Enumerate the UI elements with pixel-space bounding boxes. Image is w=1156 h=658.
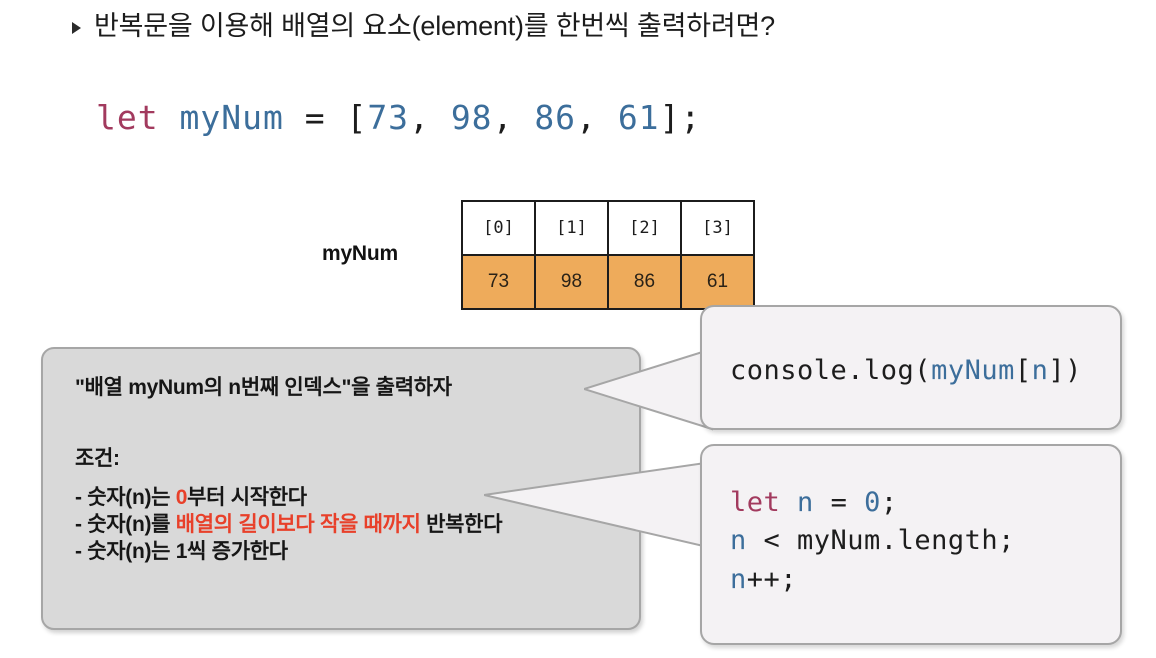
code-value-2: 86 — [534, 98, 576, 137]
console-log-code: console.log(myNum[n]) — [730, 352, 1082, 390]
condition-0-pre: - 숫자(n)는 — [75, 486, 176, 509]
loop-var-increment: n — [730, 564, 747, 595]
array-value-cell-3: 61 — [681, 255, 754, 309]
array-name-label: myNum — [288, 242, 398, 266]
loop-increment-rest: ++; — [747, 564, 797, 595]
code-separator-2: , — [576, 98, 618, 137]
array-index-cell-3: [3] — [681, 201, 754, 255]
code-keyword-let: let — [96, 98, 159, 137]
console-log-suffix: ]) — [1048, 355, 1082, 386]
table-row-values: 73 98 86 61 — [462, 255, 754, 309]
code-separator-0: , — [409, 98, 451, 137]
condition-1-highlight: 배열의 길이보다 작을 때까지 — [176, 513, 421, 536]
slide-heading: 반복문을 이용해 배열의 요소(element)를 한번씩 출력하려면? — [72, 8, 775, 44]
condition-0-highlight: 0 — [176, 486, 187, 509]
condition-2-pre: - 숫자(n)는 1씩 증가한다 — [75, 540, 288, 563]
code-identifier-mynum: myNum — [159, 98, 284, 137]
triangle-bullet-icon — [72, 22, 81, 34]
console-log-open-bracket: [ — [1015, 355, 1032, 386]
condition-1-pre: - 숫자(n)를 — [75, 513, 176, 536]
condition-0-post: 부터 시작한다 — [187, 486, 307, 509]
array-value-cell-1: 98 — [535, 255, 608, 309]
loop-var-init: n — [797, 487, 814, 518]
description-spacer — [75, 402, 609, 446]
slide-canvas: 반복문을 이용해 배열의 요소(element)를 한번씩 출력하려면? let… — [0, 0, 1156, 658]
table-row-indices: [0] [1] [2] [3] — [462, 201, 754, 255]
code-value-3: 61 — [618, 98, 660, 137]
description-title: "배열 myNum의 n번째 인덱스"을 출력하자 — [75, 375, 609, 402]
array-value-cell-2: 86 — [608, 255, 681, 309]
code-assign-operator: = — [284, 98, 347, 137]
code-open-bracket: [ — [346, 98, 367, 137]
condition-item-1: - 숫자(n)를 배열의 길이보다 작을 때까지 반복한다 — [75, 512, 609, 539]
array-index-cell-0: [0] — [462, 201, 535, 255]
console-log-index: n — [1032, 355, 1049, 386]
condition-1-post: 반복한다 — [421, 513, 503, 536]
console-log-object: myNum — [931, 355, 1015, 386]
condition-item-0: - 숫자(n)는 0부터 시작한다 — [75, 485, 609, 512]
array-declaration-code: let myNum = [73, 98, 86, 61]; — [96, 98, 701, 138]
loop-init-value: 0 — [864, 487, 881, 518]
code-close-bracket-semicolon: ]; — [660, 98, 702, 137]
code-separator-1: , — [493, 98, 535, 137]
array-index-cell-2: [2] — [608, 201, 681, 255]
heading-text: 반복문을 이용해 배열의 요소(element)를 한번씩 출력하려면? — [94, 8, 775, 44]
conditions-spacer — [75, 473, 609, 485]
array-value-cell-0: 73 — [462, 255, 535, 309]
description-box: "배열 myNum의 n번째 인덱스"을 출력하자 조건: - 숫자(n)는 0… — [41, 347, 641, 630]
loop-semicolon-1: ; — [881, 487, 898, 518]
loop-header-code: let n = 0; n < myNum.length; n++; — [730, 484, 1015, 599]
callout-console-log: console.log(myNum[n]) — [700, 305, 1122, 430]
code-value-1: 98 — [451, 98, 493, 137]
loop-space-1 — [780, 487, 797, 518]
array-index-cell-1: [1] — [535, 201, 608, 255]
code-value-0: 73 — [367, 98, 409, 137]
condition-item-2: - 숫자(n)는 1씩 증가한다 — [75, 539, 609, 566]
callout-loop-header: let n = 0; n < myNum.length; n++; — [700, 444, 1122, 645]
loop-keyword-let: let — [730, 487, 780, 518]
loop-condition-rest: < myNum.length; — [747, 525, 1015, 556]
loop-var-condition: n — [730, 525, 747, 556]
loop-assign-operator: = — [814, 487, 864, 518]
console-log-prefix: console.log( — [730, 355, 931, 386]
array-table: [0] [1] [2] [3] 73 98 86 61 — [461, 200, 755, 310]
conditions-label: 조건: — [75, 446, 609, 473]
